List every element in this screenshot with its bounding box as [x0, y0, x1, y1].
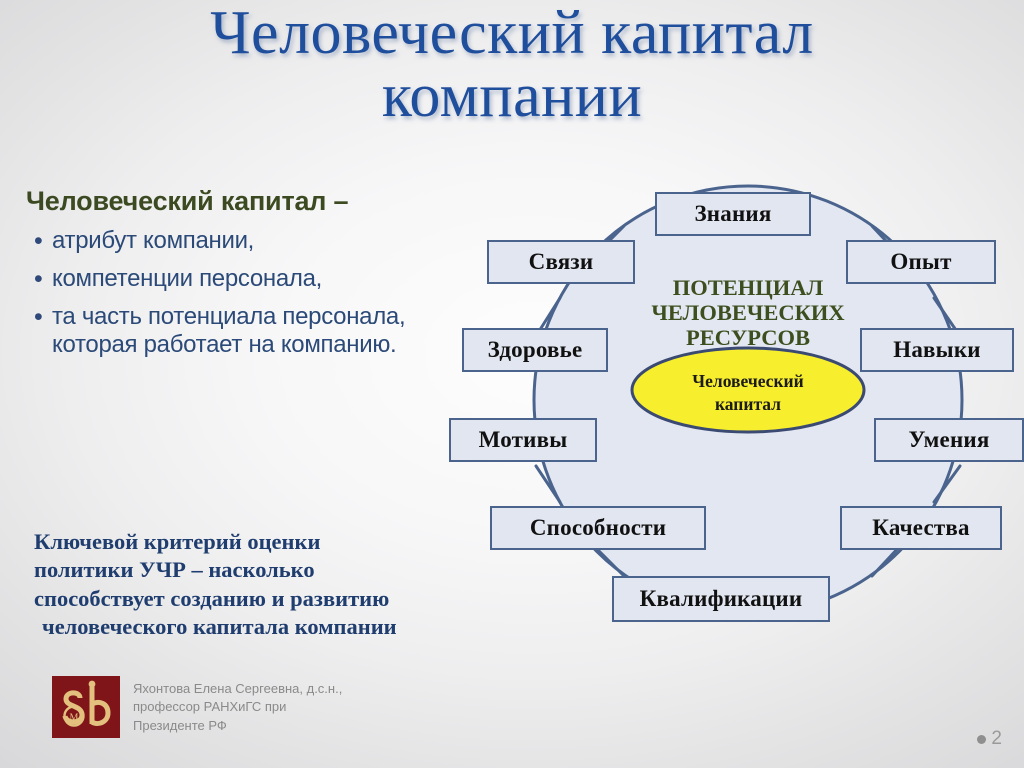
- node-label: Здоровье: [488, 337, 583, 363]
- bullet-icon: •: [26, 227, 52, 256]
- page-number-value: 2: [991, 728, 1002, 750]
- sb-logo: М: [52, 676, 120, 738]
- human-capital-ellipse-label: Человеческий капитал: [632, 370, 864, 416]
- slide-canvas: Человеческий капитал компании Человеческ…: [0, 0, 1024, 768]
- node-box-qualifications[interactable]: Квалификации: [612, 576, 830, 622]
- page-number: 2: [977, 728, 1002, 750]
- title-line-2: компании: [0, 65, 1024, 128]
- human-capital-diagram: ПОТЕНЦИАЛ ЧЕЛОВЕЧЕСКИХ РЕСУРСОВ Человече…: [440, 170, 1024, 640]
- list-item-label: та часть потенциала персонала, которая р…: [52, 303, 456, 361]
- node-label: Умения: [908, 427, 989, 453]
- svg-text:М: М: [70, 713, 79, 724]
- list-item: • атрибут компании,: [26, 227, 456, 256]
- node-label: Опыт: [890, 249, 951, 275]
- list-item-label: компетенции персонала,: [52, 265, 456, 294]
- intro-heading: Человеческий капитал –: [26, 186, 456, 217]
- bullet-icon: •: [26, 265, 52, 294]
- title-line-1: Человеческий капитал: [210, 0, 813, 67]
- list-item-label: атрибут компании,: [52, 227, 456, 256]
- bullet-icon: •: [26, 303, 52, 332]
- node-box-health[interactable]: Здоровье: [462, 328, 608, 372]
- node-label: Квалификации: [640, 586, 803, 612]
- node-label: Знания: [694, 201, 771, 227]
- node-box-experience[interactable]: Опыт: [846, 240, 996, 284]
- list-item: • компетенции персонала,: [26, 265, 456, 294]
- intro-block: Человеческий капитал – • атрибут компани…: [26, 186, 456, 369]
- node-label: Способности: [530, 515, 666, 541]
- node-label: Навыки: [893, 337, 980, 363]
- list-item: • та часть потенциала персонала, которая…: [26, 303, 456, 361]
- author-credit: Яхонтова Елена Сергеевна, д.с.н., профес…: [133, 680, 433, 735]
- page-bullet-icon: [977, 735, 986, 744]
- node-box-practical-abilities[interactable]: Умения: [874, 418, 1024, 462]
- node-box-qualities[interactable]: Качества: [840, 506, 1002, 550]
- sb-monogram-icon: М: [52, 676, 120, 738]
- node-box-motives[interactable]: Мотивы: [449, 418, 597, 462]
- node-box-skills[interactable]: Навыки: [860, 328, 1014, 372]
- page-title: Человеческий капитал компании: [0, 2, 1024, 128]
- node-label: Качества: [872, 515, 969, 541]
- node-box-connections[interactable]: Связи: [487, 240, 635, 284]
- node-box-capabilities[interactable]: Способности: [490, 506, 706, 550]
- node-box-knowledge[interactable]: Знания: [655, 192, 811, 236]
- node-label: Мотивы: [479, 427, 568, 453]
- node-label: Связи: [529, 249, 594, 275]
